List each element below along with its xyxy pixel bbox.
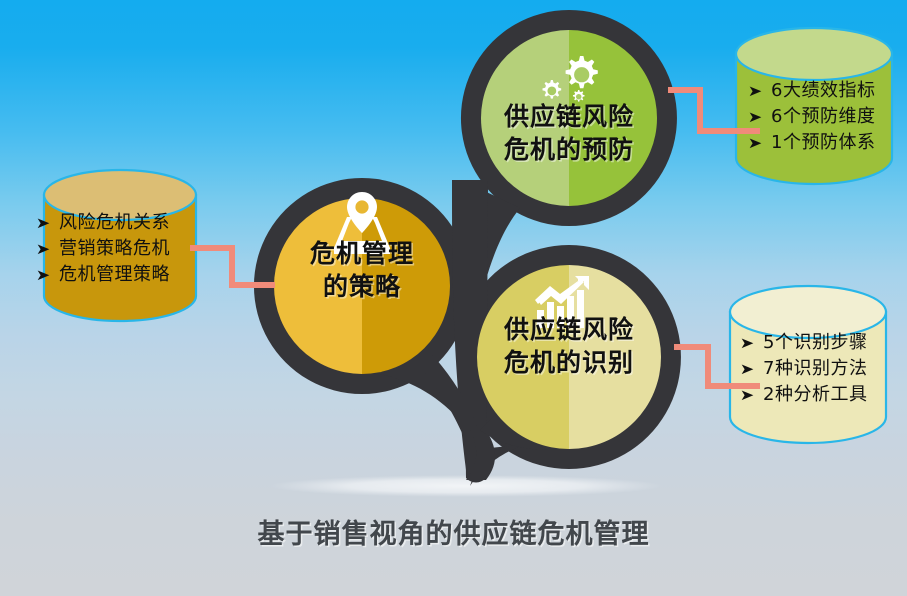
arrow-bullet-icon: ➤ bbox=[35, 268, 51, 283]
list-item-label: 6大绩效指标 bbox=[771, 78, 875, 104]
list-item: ➤ 6个预防维度 bbox=[748, 104, 875, 130]
pin-label-line: 危机的预防 bbox=[469, 133, 669, 166]
arrow-bullet-icon: ➤ bbox=[35, 216, 51, 231]
pin-label-line: 供应链风险 bbox=[469, 100, 669, 133]
cylinder-list-prevention: ➤ 6大绩效指标 ➤ 6个预防维度 ➤ 1个预防体系 bbox=[748, 78, 875, 156]
arrow-bullet-icon: ➤ bbox=[739, 388, 755, 403]
arrow-bullet-icon: ➤ bbox=[739, 336, 755, 351]
cylinder-list-identification: ➤ 5个识别步骤 ➤ 7种识别方法 ➤ 2种分析工具 bbox=[740, 330, 867, 408]
list-item-label: 5个识别步骤 bbox=[763, 330, 867, 356]
arrow-bullet-icon: ➤ bbox=[747, 110, 763, 125]
pin-label-strategy: 危机管理 的策略 bbox=[262, 237, 462, 304]
list-item: ➤ 5个识别步骤 bbox=[740, 330, 867, 356]
pin-label-line: 的策略 bbox=[262, 270, 462, 303]
list-item: ➤ 营销策略危机 bbox=[36, 236, 170, 262]
cylinder-list-strategy: ➤ 风险危机关系 ➤ 营销策略危机 ➤ 危机管理策略 bbox=[36, 210, 170, 288]
pin-label-prevention: 供应链风险 危机的预防 bbox=[469, 100, 669, 167]
list-item: ➤ 1个预防体系 bbox=[748, 130, 875, 156]
page-title: 基于销售视角的供应链危机管理 bbox=[0, 512, 907, 551]
list-item-label: 1个预防体系 bbox=[771, 130, 875, 156]
pin-label-line: 供应链风险 bbox=[469, 313, 669, 346]
arrow-bullet-icon: ➤ bbox=[739, 362, 755, 377]
arrow-bullet-icon: ➤ bbox=[35, 242, 51, 257]
list-item-label: 营销策略危机 bbox=[59, 236, 170, 262]
list-item: ➤ 2种分析工具 bbox=[740, 382, 867, 408]
list-item-label: 危机管理策略 bbox=[59, 262, 170, 288]
list-item: ➤ 危机管理策略 bbox=[36, 262, 170, 288]
list-item-label: 2种分析工具 bbox=[763, 382, 867, 408]
list-item-label: 6个预防维度 bbox=[771, 104, 875, 130]
list-item: ➤ 7种识别方法 bbox=[740, 356, 867, 382]
list-item: ➤ 6大绩效指标 bbox=[748, 78, 875, 104]
list-item-label: 风险危机关系 bbox=[59, 210, 170, 236]
list-item-label: 7种识别方法 bbox=[763, 356, 867, 382]
pin-label-line: 危机管理 bbox=[262, 237, 462, 270]
pin-label-line: 危机的识别 bbox=[469, 346, 669, 379]
pin-label-identification: 供应链风险 危机的识别 bbox=[469, 313, 669, 380]
ground-shadow bbox=[270, 475, 662, 497]
arrow-bullet-icon: ➤ bbox=[747, 136, 763, 151]
list-item: ➤ 风险危机关系 bbox=[36, 210, 170, 236]
arrow-bullet-icon: ➤ bbox=[747, 84, 763, 99]
infographic-canvas: 供应链风险 危机的预防 危机管理 的策略 供应链风险 危机的识别 ➤ 6大绩效指… bbox=[0, 0, 907, 596]
